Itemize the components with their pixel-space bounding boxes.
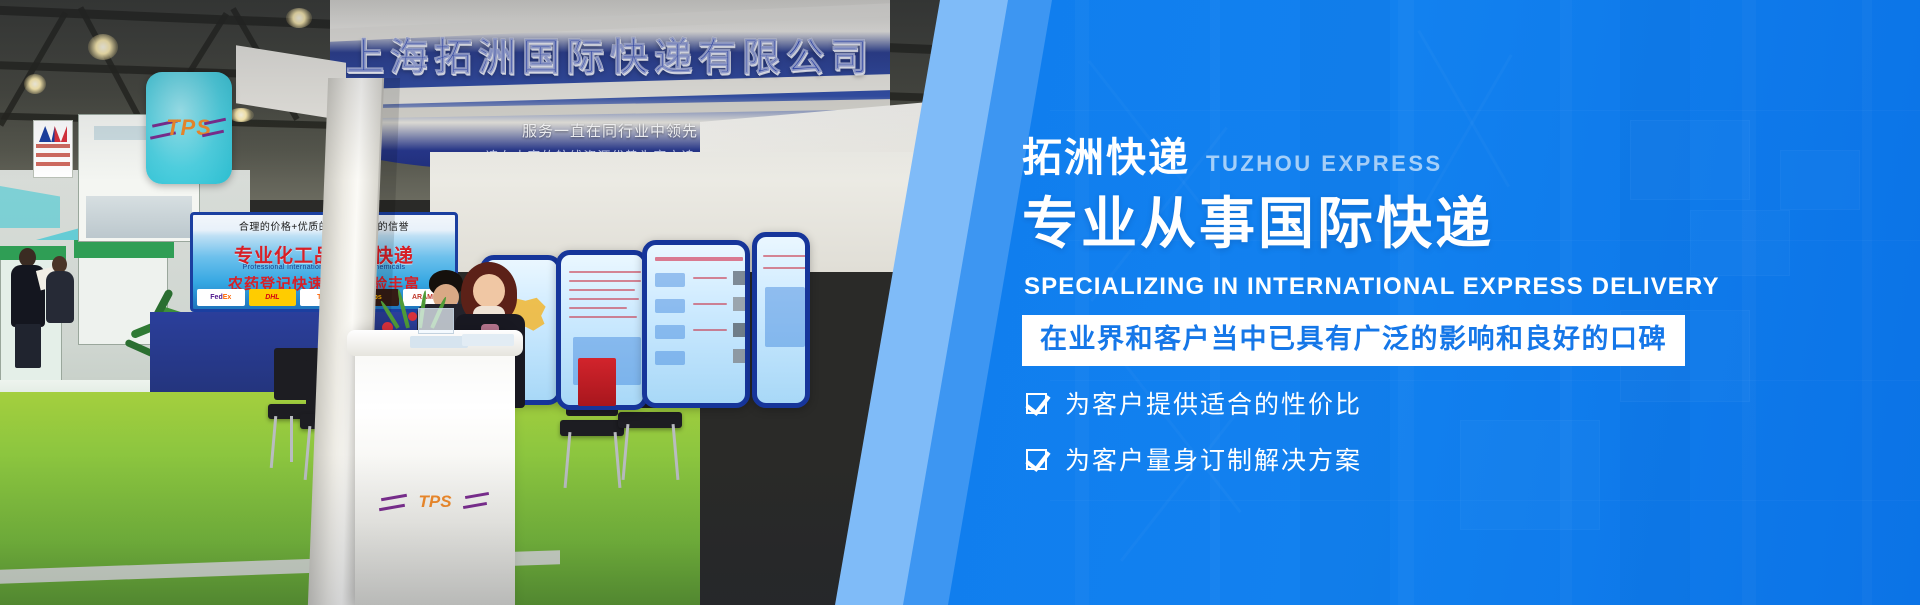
- lightbox-header-line: [655, 257, 743, 261]
- reception-desk: TPS: [355, 330, 515, 605]
- person-torso: [46, 271, 74, 323]
- lightbox-textline: [569, 298, 639, 300]
- list-item: 为客户提供适合的性价比: [1026, 385, 1362, 421]
- display-lightbox-flow: [642, 240, 750, 408]
- flower-leaf: [396, 289, 410, 329]
- headline-cn: 专业从事国际快递: [1022, 195, 1494, 254]
- desk-logo-bar: [381, 494, 407, 501]
- lightbox-textline: [569, 280, 641, 282]
- person-head: [473, 274, 505, 308]
- highlight-quote-text: 在业界和客户当中已具有广泛的影响和良好的口碑: [1040, 325, 1667, 355]
- list-item: 为客户量身订制解决方案: [1026, 441, 1362, 477]
- chair-leg: [270, 416, 278, 468]
- benefit-label: 为客户量身订制解决方案: [1065, 441, 1362, 477]
- exhibition-booth-photo: 上海拓洲国际快递有限公司 服务一直在同行业中领先 遍布丰富的航线资源优势为客户追…: [0, 0, 975, 605]
- flow-label: [693, 329, 727, 331]
- desk-logo-bar: [463, 502, 487, 509]
- flow-thumb: [733, 323, 749, 337]
- flow-node: [655, 299, 685, 313]
- far-board-content: [86, 196, 192, 238]
- desk-logo-bar: [379, 504, 405, 511]
- lightbox-textline: [763, 255, 807, 257]
- banner-content: 拓洲快递 TUZHOU EXPRESS 专业从事国际快递 SPECIALIZIN…: [1022, 0, 1902, 605]
- flow-thumb: [733, 297, 749, 311]
- display-lightbox-side: [752, 232, 810, 408]
- desk-logo-bar: [465, 492, 489, 499]
- lightbox-textline: [763, 267, 807, 269]
- brand-lockup: 拓洲快递 TUZHOU EXPRESS: [1022, 138, 1443, 178]
- lightbox-textline: [569, 307, 627, 309]
- lightbox-block: [765, 287, 805, 347]
- benefit-list: 为客户提供适合的性价比 为客户量身订制解决方案: [1026, 385, 1362, 497]
- neighbour-logo-text: [36, 144, 70, 166]
- desk-brochure-stack: [410, 336, 468, 348]
- flow-node: [655, 273, 685, 287]
- tps-logo-text: TPS: [166, 115, 212, 141]
- brand-name-cn: 拓洲快递: [1022, 138, 1190, 178]
- ceiling-lamp: [24, 74, 46, 94]
- desk-brochure-stack: [462, 334, 514, 346]
- chair-leg: [304, 426, 312, 480]
- chair-leg: [564, 432, 572, 488]
- ceiling-lamp: [88, 34, 118, 60]
- flow-node: [655, 351, 685, 365]
- desk-logo-text: TPS: [418, 492, 451, 512]
- courier-logo-dhl: DHL: [249, 289, 297, 306]
- check-icon: [1026, 393, 1047, 414]
- lightbox-textline: [569, 271, 641, 273]
- booth-slogan-line1: 服务一直在同行业中领先: [522, 120, 698, 141]
- courier-logo-fedex: FedEx: [197, 289, 245, 306]
- lightbox-textline: [569, 316, 637, 318]
- flow-thumb: [733, 349, 749, 363]
- subtitle-en: SPECIALIZING IN INTERNATIONAL EXPRESS DE…: [1024, 273, 1720, 301]
- flow-label: [693, 277, 727, 279]
- flow-node: [655, 325, 685, 339]
- booth-company-name: 上海拓洲国际快递有限公司: [346, 26, 874, 81]
- chair-leg: [290, 416, 293, 462]
- desk-acrylic-box: [418, 308, 454, 334]
- tps-logo-plate: TPS: [146, 72, 232, 184]
- ceiling-lamp: [286, 8, 312, 28]
- check-icon: [1026, 449, 1047, 470]
- chair-leg: [672, 424, 680, 480]
- highlight-quote-box: 在业界和客户当中已具有广泛的影响和良好的口碑: [1022, 315, 1685, 366]
- person-legs: [15, 324, 41, 368]
- lightbox-textline: [569, 289, 635, 291]
- visitor-person: [44, 256, 78, 356]
- brand-name-en: TUZHOU EXPRESS: [1206, 151, 1443, 177]
- far-green-strip: [74, 240, 174, 258]
- red-shopping-bag: [578, 358, 616, 406]
- flower-bloom: [408, 312, 417, 321]
- flow-label: [693, 303, 727, 305]
- chair-leg: [622, 424, 630, 480]
- benefit-label: 为客户提供适合的性价比: [1065, 385, 1362, 421]
- flow-thumb: [733, 271, 749, 285]
- hero-banner: 上海拓洲国际快递有限公司 服务一直在同行业中领先 遍布丰富的航线资源优势为客户追…: [0, 0, 1920, 605]
